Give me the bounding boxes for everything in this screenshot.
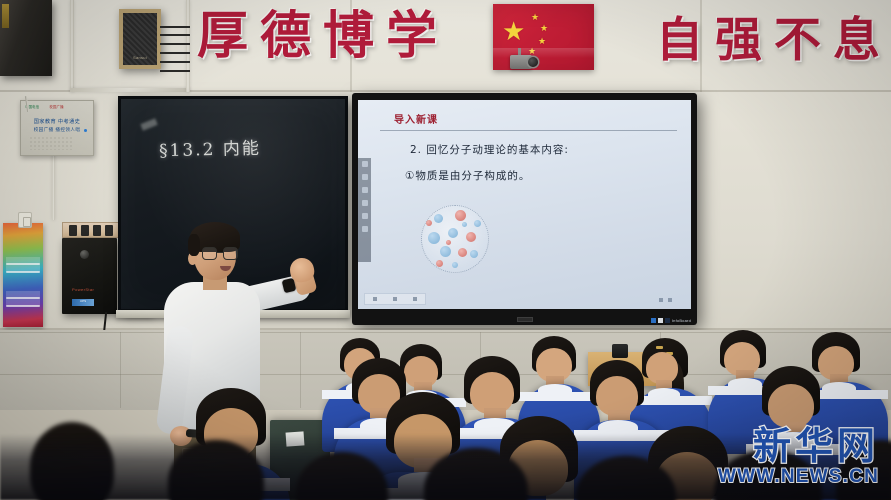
board-corner-controls[interactable]	[659, 295, 685, 305]
undo-tool-icon[interactable]	[362, 213, 368, 219]
hair-clip	[656, 346, 663, 349]
board-close-icon[interactable]	[668, 298, 672, 302]
intercom-text-line-2: 校园广播 播控领人唱	[21, 127, 93, 133]
select-tool-icon[interactable]	[362, 200, 368, 206]
board-brand-label: InfoBoard	[672, 318, 691, 323]
shape-tool-icon[interactable]	[362, 187, 368, 193]
eraser-tool-icon[interactable]	[362, 174, 368, 180]
board-nav-next-icon[interactable]	[413, 297, 417, 301]
board-toolbar[interactable]	[358, 158, 371, 262]
slide-body-line-1: 2. 回忆分子动理论的基本内容:	[410, 142, 569, 157]
intercom-status-led	[84, 129, 87, 132]
board-minimize-icon[interactable]	[659, 298, 663, 302]
pen-tool-icon[interactable]	[362, 161, 368, 167]
wall-outlet[interactable]	[18, 212, 32, 228]
glasses-icon	[202, 247, 238, 260]
conduit-pipe	[52, 150, 55, 220]
board-nav-prev-icon[interactable]	[373, 297, 377, 301]
student-rows	[0, 330, 891, 500]
board-nav-home-icon[interactable]	[393, 297, 397, 301]
slide-body-line-2: ①物质是由分子构成的。	[405, 168, 530, 183]
wall-motto-right: 自强不息	[656, 17, 891, 64]
intercom-text-line-1: 国家教育 中考通史	[21, 118, 93, 125]
cabinet-knob-icon[interactable]	[80, 250, 89, 259]
flag-star-large: ★	[502, 18, 525, 44]
more-tool-icon[interactable]	[362, 226, 368, 232]
wall-poster	[3, 223, 43, 327]
speaker-brand-label: Sansui	[133, 55, 147, 60]
conduit-pipe	[70, 0, 74, 92]
intercom-panel[interactable]: 中国电信 校园广播 国家教育 中考通史 校园广播 播控领人唱	[20, 100, 94, 156]
wall-motto-left: 厚德博学	[197, 11, 449, 62]
conduit-pipe	[70, 88, 190, 92]
smart-board[interactable]: 导入新课 2. 回忆分子动理论的基本内容: ①物质是由分子构成的。	[352, 93, 697, 325]
classroom-photo: 厚德博学 自强不息 ★ ★ ★ ★ ★ Sansui 中国电信 校园广播 国家教…	[0, 0, 891, 500]
breaker-box[interactable]	[62, 222, 124, 238]
wall-speaker-right: Sansui	[119, 9, 161, 69]
cabinet-brand-label: PowerStar	[72, 287, 94, 292]
speaker-wires	[160, 26, 190, 72]
cabinet-tag-label: UPS	[72, 299, 94, 306]
flag-star-small: ★	[538, 37, 546, 46]
equipment-cabinet[interactable]: PowerStar UPS	[62, 238, 117, 314]
wall-speaker-left	[0, 0, 52, 76]
intercom-speaker-grille-icon	[29, 136, 73, 150]
chinese-flag: ★ ★ ★ ★ ★	[493, 4, 594, 70]
intercom-logos: 中国电信 校园广播	[25, 104, 64, 109]
board-ir-sensor	[517, 317, 533, 322]
molecule-diagram-icon	[421, 205, 489, 273]
board-brand-badge: InfoBoard	[651, 318, 691, 323]
intercom-logo-right: 校园广播	[49, 104, 63, 109]
chalk-smudge	[140, 118, 157, 130]
camera-lens-icon	[528, 57, 538, 67]
foreground-shadow	[0, 434, 891, 500]
smart-board-screen[interactable]: 导入新课 2. 回忆分子动理论的基本内容: ①物质是由分子构成的。	[358, 100, 691, 309]
board-bottom-toolbar[interactable]	[364, 293, 426, 305]
flag-star-small: ★	[531, 13, 539, 22]
blackboard-chalk-text: §13.2 内能	[159, 134, 261, 162]
flag-star-small: ★	[540, 24, 548, 33]
slide-title: 导入新课	[394, 111, 438, 126]
slide-title-rule	[380, 130, 677, 131]
